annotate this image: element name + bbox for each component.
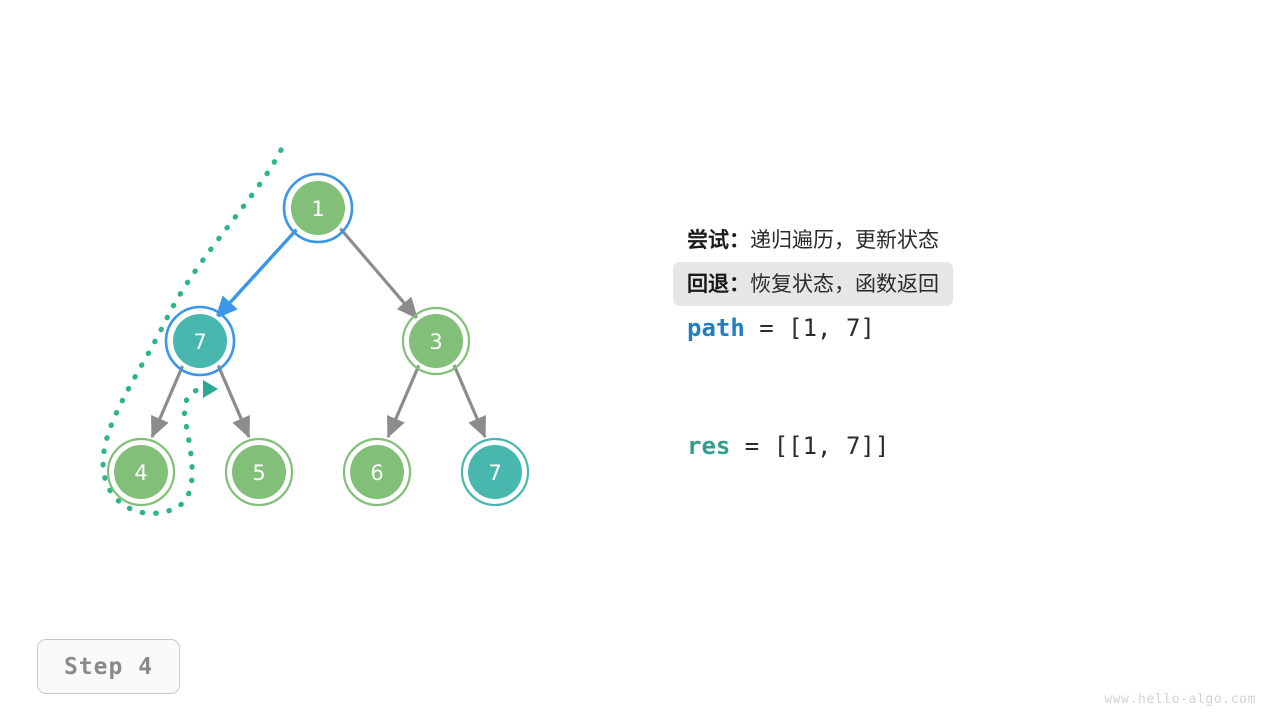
tree-node-5-label: 5 (252, 461, 265, 485)
backtrack-triangle-icon (203, 380, 218, 398)
illustration-canvas: 1 7 3 4 (0, 0, 1280, 720)
back-line-text: 恢复状态，函数返回 (750, 272, 939, 296)
watermark: www.hello-algo.com (1104, 692, 1256, 707)
path-expression: = [1, 7] (745, 314, 875, 342)
path-line: path = [1, 7] (687, 306, 1107, 350)
step-badge-label: Step 4 (64, 654, 153, 680)
back-line: 回退：恢复状态，函数返回 (673, 262, 953, 306)
try-line-keyword: 尝试： (687, 228, 750, 252)
tree-node-3[interactable]: 3 (403, 308, 469, 374)
tree-node-6-label: 6 (370, 461, 383, 485)
tree-node-1[interactable]: 1 (284, 174, 352, 242)
res-variable: res (687, 432, 730, 460)
res-expression: = [[1, 7]] (730, 432, 889, 460)
tree-node-5[interactable]: 5 (226, 439, 292, 505)
panel-spacer-2 (687, 394, 1107, 424)
tree-node-1-label: 1 (311, 197, 324, 221)
step-badge: Step 4 (37, 639, 180, 694)
tree-node-7-left[interactable]: 7 (166, 307, 234, 375)
tree-nodes: 1 7 3 4 (108, 174, 528, 505)
tree-node-7-right-label: 7 (488, 461, 501, 485)
edge-7-4 (152, 365, 183, 437)
try-line: 尝试：递归遍历，更新状态 (673, 218, 953, 262)
try-line-text: 递归遍历，更新状态 (750, 228, 939, 252)
back-line-keyword: 回退： (687, 272, 750, 296)
path-variable: path (687, 314, 745, 342)
info-panel: 尝试：递归遍历，更新状态 回退：恢复状态，函数返回 path = [1, 7] … (687, 218, 1107, 468)
res-line: res = [[1, 7]] (687, 424, 1107, 468)
edge-1-3 (339, 227, 417, 318)
panel-spacer-1 (687, 350, 1107, 394)
edge-1-7 (216, 228, 298, 318)
edge-3-7r (454, 365, 485, 437)
edge-7-5 (218, 365, 249, 437)
tree-node-6[interactable]: 6 (344, 439, 410, 505)
back-line-row: 回退：恢复状态，函数返回 (687, 262, 1107, 306)
edge-3-6 (388, 365, 419, 437)
tree-node-4[interactable]: 4 (108, 439, 174, 505)
try-line-row: 尝试：递归遍历，更新状态 (687, 218, 1107, 262)
tree-node-7-left-label: 7 (193, 330, 206, 354)
tree-node-3-label: 3 (429, 330, 442, 354)
tree-node-7-right[interactable]: 7 (462, 439, 528, 505)
tree-node-4-label: 4 (134, 461, 147, 485)
